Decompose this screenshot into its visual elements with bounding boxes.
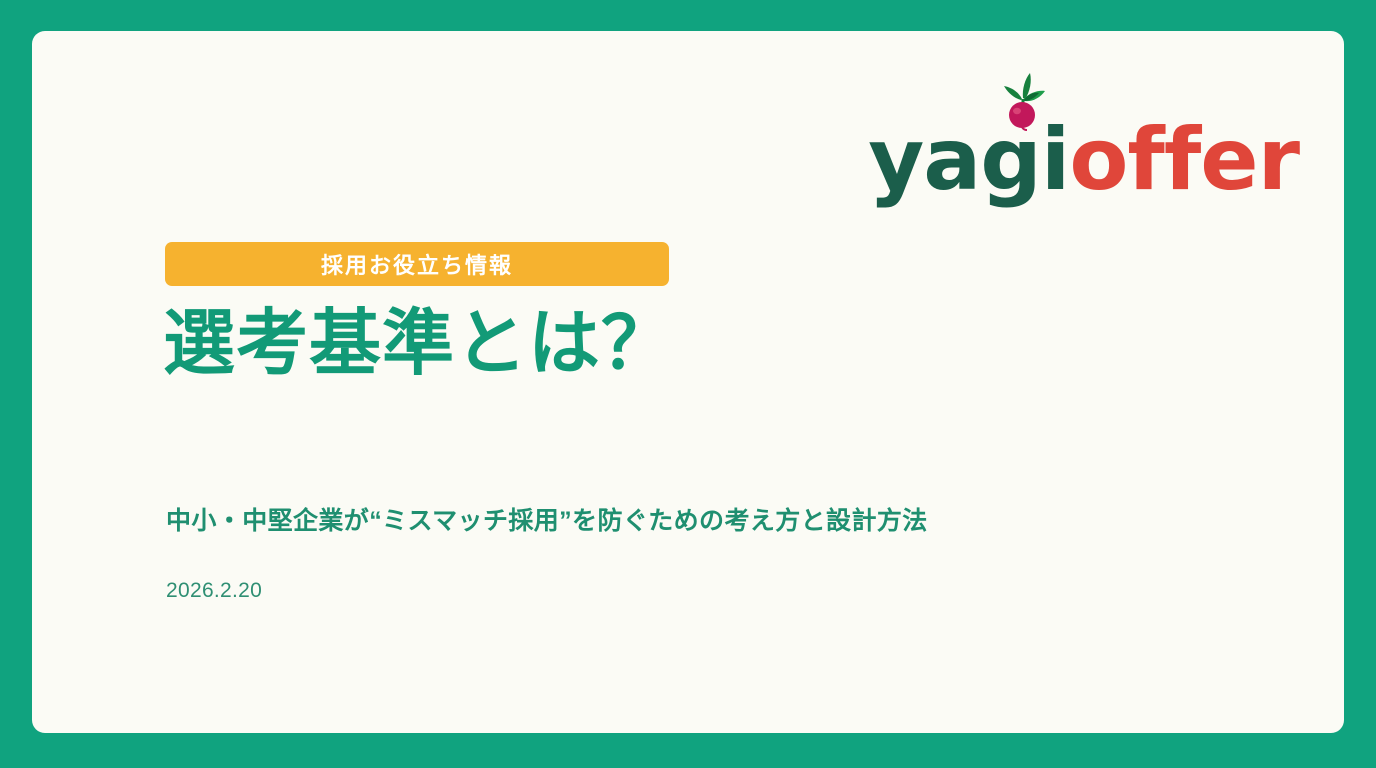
slide-subtitle: 中小・中堅企業が“ミスマッチ採用”を防ぐための考え方と設計方法 (166, 505, 928, 538)
brand-logo[interactable]: yagi offer (868, 83, 1299, 203)
logo-text-offer: offer (1069, 117, 1299, 203)
slide-date: 2026.2.20 (166, 579, 262, 603)
category-badge: 採用お役立ち情報 (165, 242, 669, 286)
category-badge-label: 採用お役立ち情報 (321, 248, 513, 280)
page-title: 選考基準とは？ (163, 303, 674, 387)
slide-card: yagi offer 採 (32, 31, 1344, 733)
logo-wordmark: yagi offer (868, 117, 1299, 203)
radish-icon (996, 69, 1052, 131)
slide-root: yagi offer 採 (0, 0, 1376, 768)
